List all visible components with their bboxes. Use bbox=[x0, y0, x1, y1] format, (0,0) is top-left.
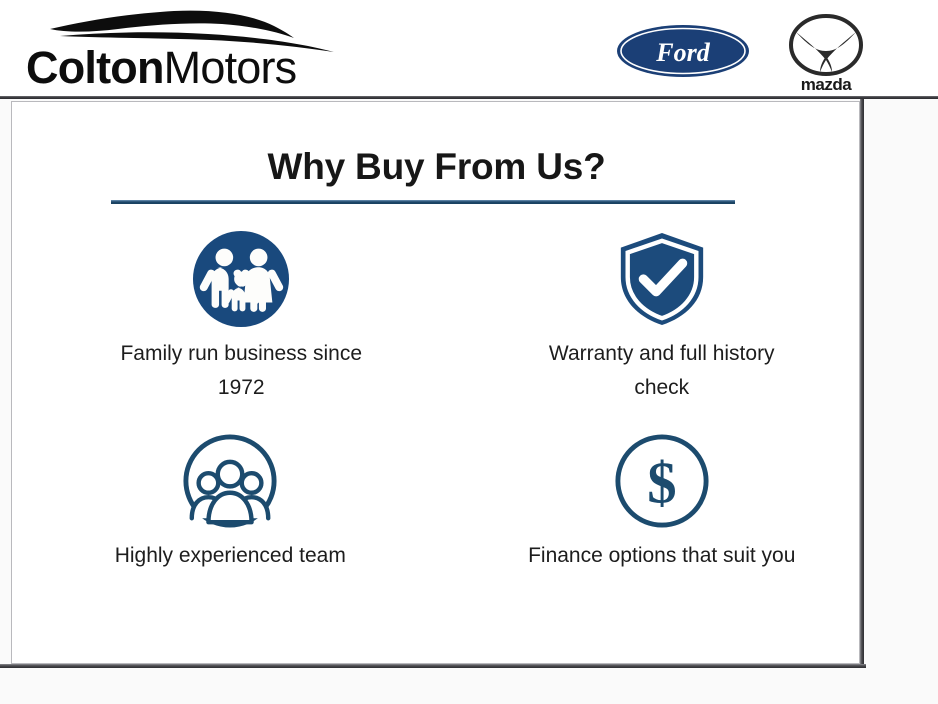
feature-label: Warranty and full history check bbox=[522, 337, 802, 405]
slide-area: Why Buy From Us? bbox=[0, 99, 938, 704]
team-icon bbox=[181, 432, 279, 530]
colton-motors-logo[interactable]: ColtonMotors bbox=[26, 6, 356, 92]
mazda-logo[interactable]: mazda bbox=[780, 12, 872, 94]
feature-grid: Family run business since 1972 Warranty … bbox=[12, 230, 861, 634]
slide-panel: Why Buy From Us? bbox=[11, 101, 860, 664]
svg-text:mazda: mazda bbox=[801, 75, 852, 94]
family-icon bbox=[192, 230, 290, 328]
brand-name-bold: Colton bbox=[26, 42, 164, 93]
brand-name-light: Motors bbox=[164, 42, 297, 93]
svg-text:Ford: Ford bbox=[655, 38, 710, 67]
feature-label: Finance options that suit you bbox=[522, 539, 802, 573]
page-header: ColtonMotors Ford mazda bbox=[0, 0, 938, 98]
feature-item-family: Family run business since 1972 bbox=[12, 230, 437, 432]
dollar-circle-icon: $ bbox=[613, 432, 711, 530]
title-divider bbox=[111, 200, 735, 204]
feature-item-team: Highly experienced team bbox=[12, 432, 437, 634]
shield-check-icon bbox=[613, 230, 711, 328]
svg-text:$: $ bbox=[647, 451, 676, 516]
page-title: Why Buy From Us? bbox=[12, 146, 861, 188]
slide-bottom-edge bbox=[0, 664, 866, 668]
feature-label: Family run business since 1972 bbox=[101, 337, 381, 405]
brand-wordmark: ColtonMotors bbox=[26, 44, 296, 92]
feature-label: Highly experienced team bbox=[90, 539, 370, 573]
ford-logo[interactable]: Ford bbox=[616, 24, 750, 78]
feature-item-warranty: Warranty and full history check bbox=[437, 230, 862, 432]
feature-item-finance: $ Finance options that suit you bbox=[437, 432, 862, 634]
